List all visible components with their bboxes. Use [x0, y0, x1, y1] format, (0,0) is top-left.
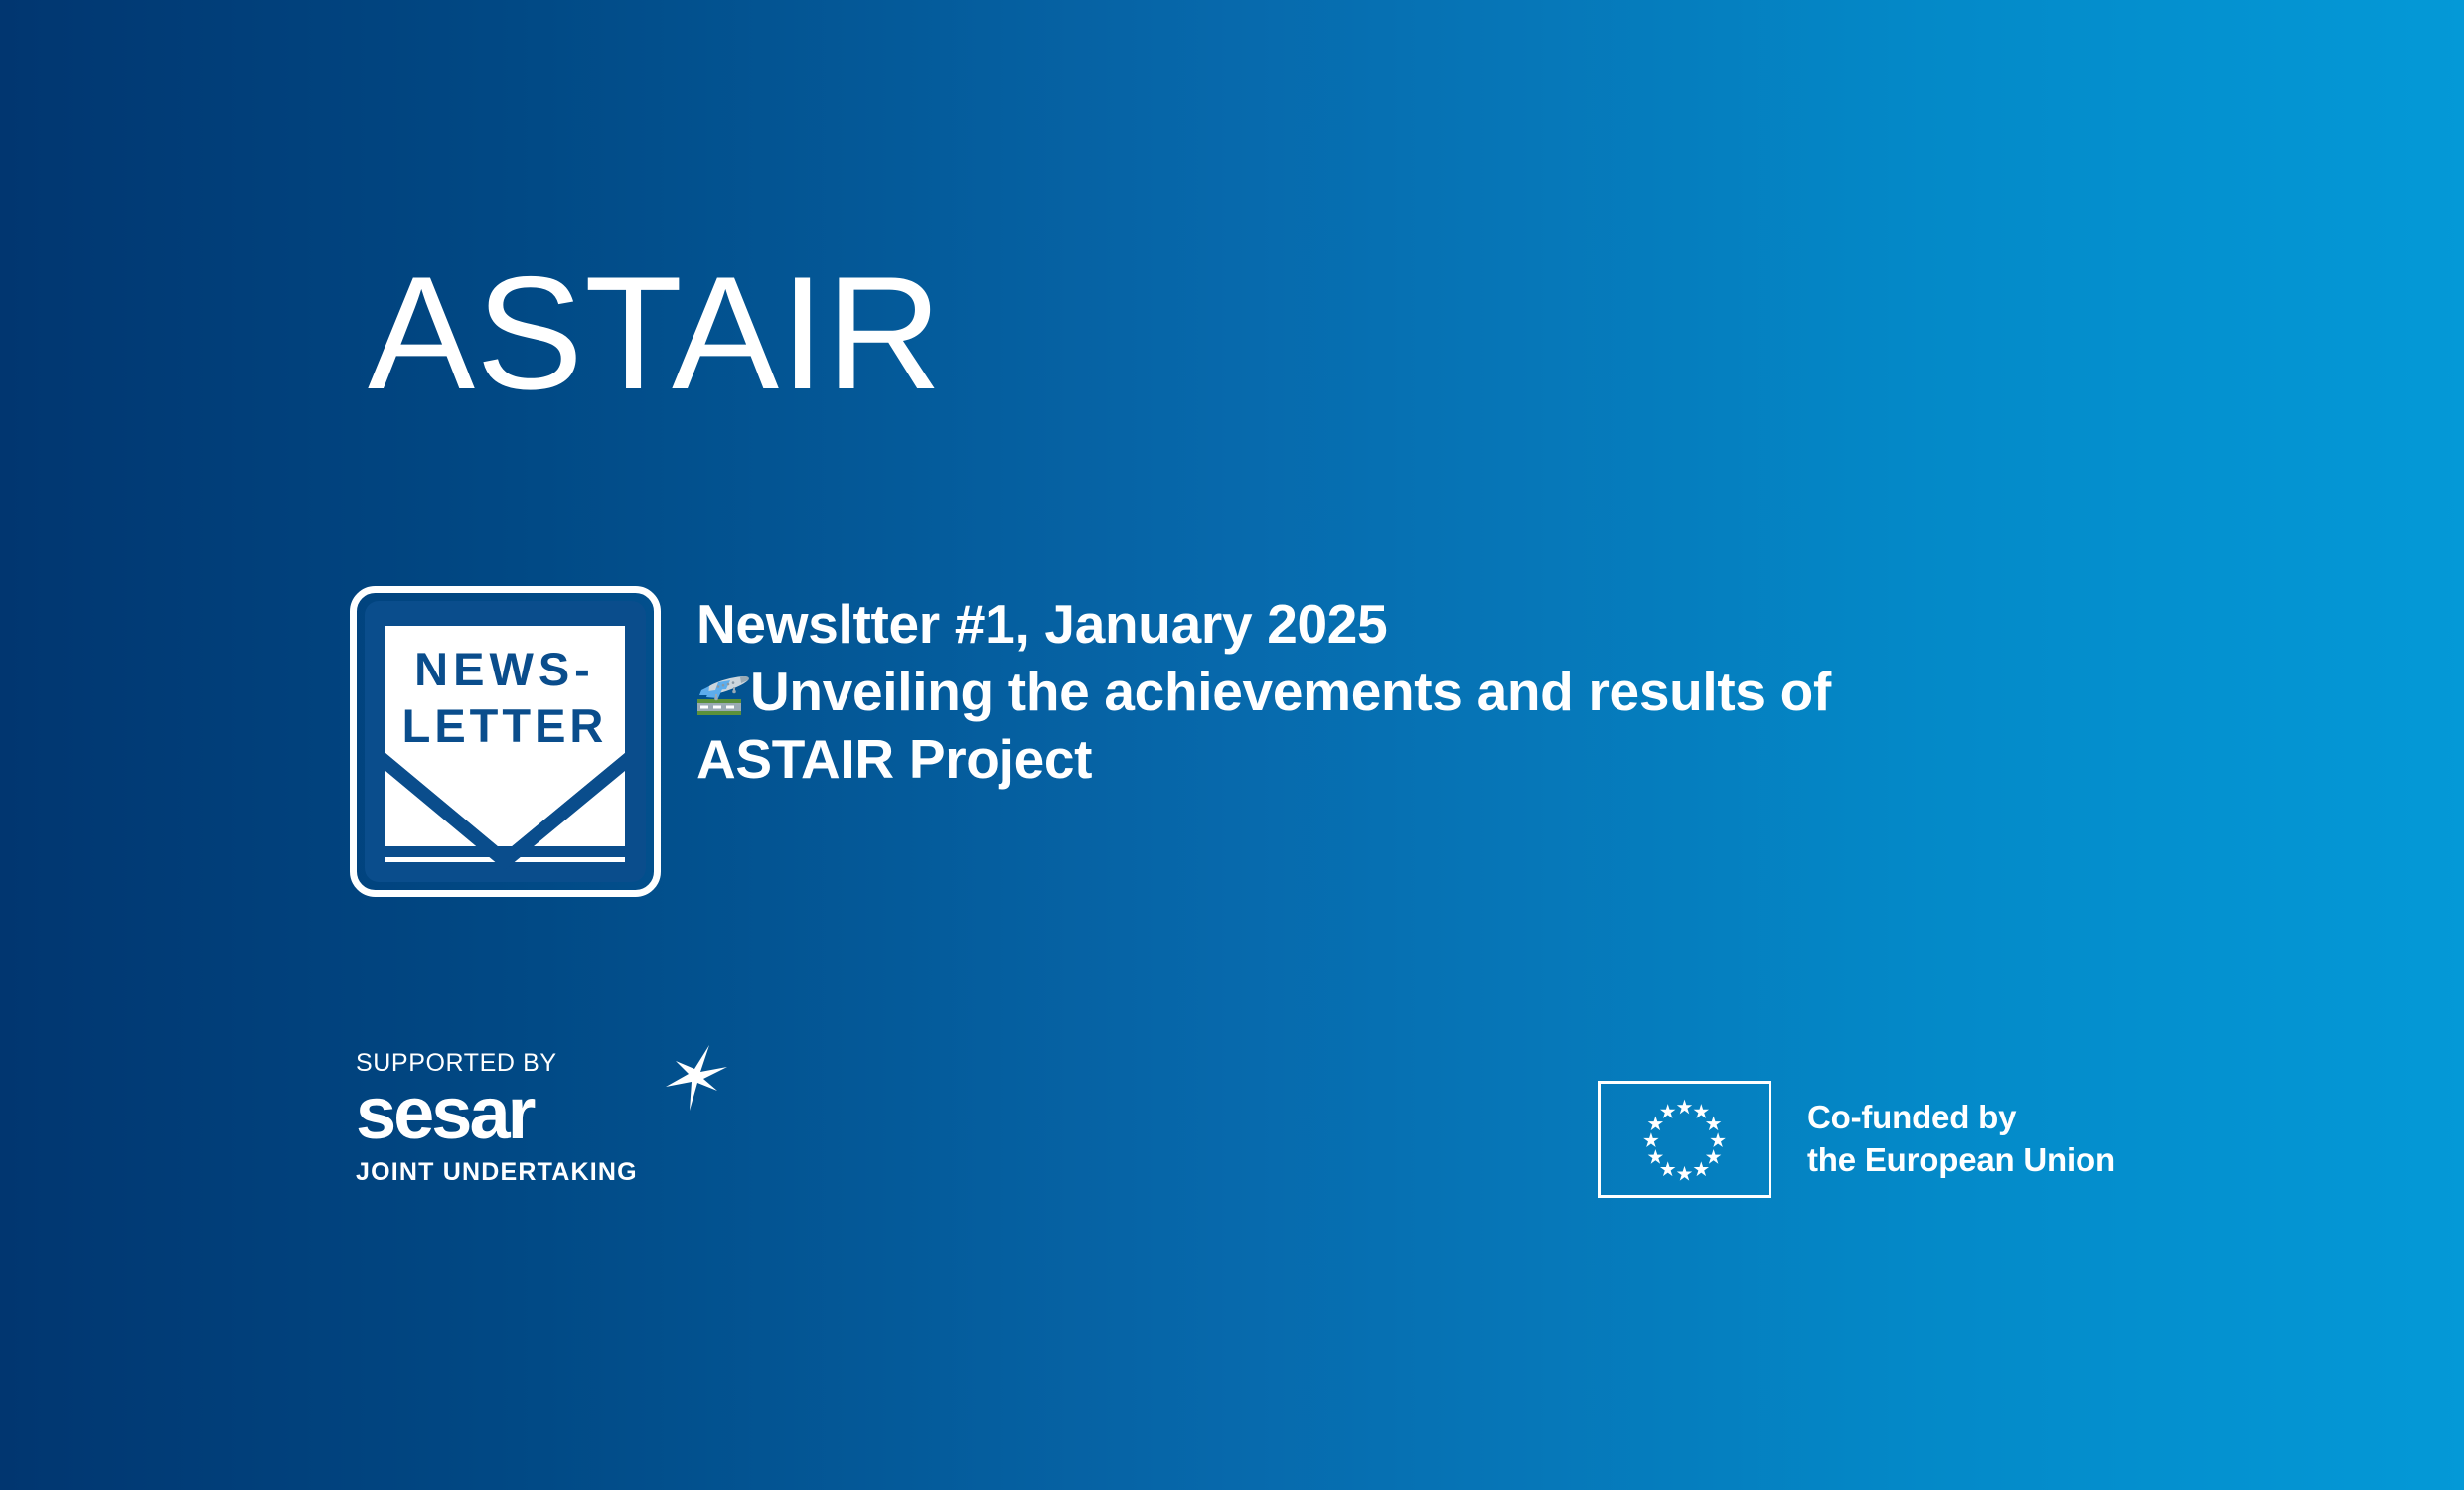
newsletter-headline: Unveiling the achievements and results o…: [696, 658, 1831, 725]
svg-text:LETTER: LETTER: [402, 699, 608, 752]
newsletter-issue-line: Newsltter #1, January 2025: [696, 590, 1831, 658]
newsletter-icon: NEWS- LETTER: [350, 586, 661, 897]
hero-text: Newsltter #1, January 2025: [696, 586, 1831, 794]
sesar-wordmark: sesar: [356, 1081, 684, 1146]
newsletter-headline-text: Unveiling the achievements and results o…: [750, 661, 1831, 722]
page-title: ASTAIR: [368, 253, 943, 414]
svg-text:NEWS-: NEWS-: [414, 643, 595, 695]
eu-cofunded-text: Co-funded by the European Union: [1807, 1097, 2115, 1182]
airplane-departure-icon: [696, 670, 752, 716]
eu-cofunded-logo: Co-funded by the European Union: [1598, 1081, 2115, 1198]
eu-cofunded-line2: the European Union: [1807, 1139, 2115, 1182]
newsletter-headline-cont: ASTAIR Project: [696, 725, 1831, 793]
hero-block: NEWS- LETTER Newsltter #1, January 2025: [350, 586, 1831, 897]
sesar-joint-undertaking-label: JOINT UNDERTAKING: [356, 1160, 684, 1185]
sesar-star-icon: [656, 1041, 729, 1115]
sesar-logo: SUPPORTED BY sesar JOINT UNDERTAKING: [356, 1051, 684, 1185]
sesar-wordmark-row: sesar: [356, 1081, 684, 1146]
eu-cofunded-line1: Co-funded by: [1807, 1097, 2115, 1139]
eu-flag-icon: [1598, 1081, 1771, 1198]
